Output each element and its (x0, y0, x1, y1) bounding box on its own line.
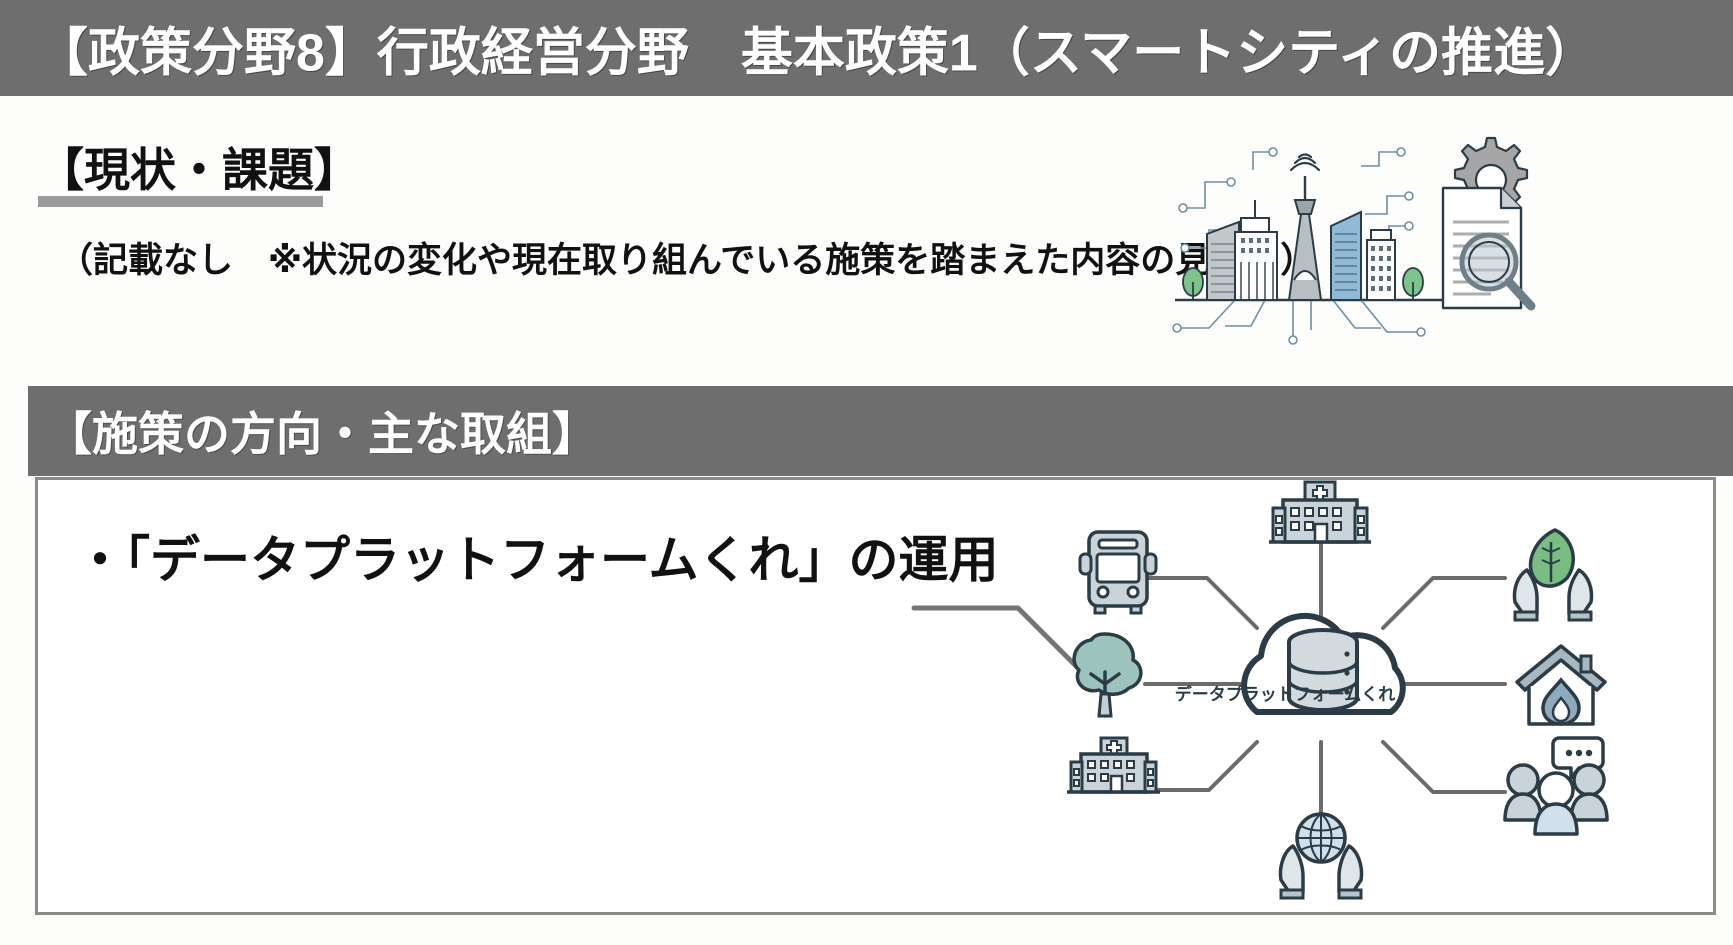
tree-icon (1403, 268, 1423, 300)
tree-icon (1074, 634, 1141, 716)
heading-current-issues: 【現状・課題】 (38, 134, 360, 200)
house-fire-icon (1517, 646, 1605, 724)
hospital-icon (1269, 482, 1371, 542)
current-issues-body-text: （記載なし ※状況の変化や現在取り組んでいる施策を踏まえた内容の見直し） (58, 232, 1315, 283)
diagram-center-label: データプラットフォームくれ (1155, 680, 1415, 705)
smart-city-illustration (1165, 130, 1545, 345)
heading-measures: 【施策の方向・主な取組】 (46, 398, 598, 464)
people-chat-icon (1505, 738, 1607, 834)
bus-icon (1080, 532, 1156, 613)
measure-bullet-item: ・「データプラットフォームくれ」の運用 (75, 520, 999, 592)
slide-root: 【政策分野8】行政経営分野 基本政策1（スマートシティの推進） 【現状・課題】 … (0, 0, 1733, 945)
leaf-in-hands-icon (1515, 530, 1592, 620)
broadcast-tower-icon (1289, 176, 1321, 300)
page-title: 【政策分野8】行政経営分野 基本政策1（スマートシティの推進） (36, 11, 1597, 86)
slide-title-bar: 【政策分野8】行政経営分野 基本政策1（スマートシティの推進） (0, 0, 1733, 96)
tree-icon (1183, 268, 1203, 300)
band-measures-heading: 【施策の方向・主な取組】 (28, 386, 1733, 476)
heading-underline (38, 196, 323, 207)
hospital-icon (1067, 738, 1160, 792)
globe-in-hands-icon (1281, 814, 1362, 898)
